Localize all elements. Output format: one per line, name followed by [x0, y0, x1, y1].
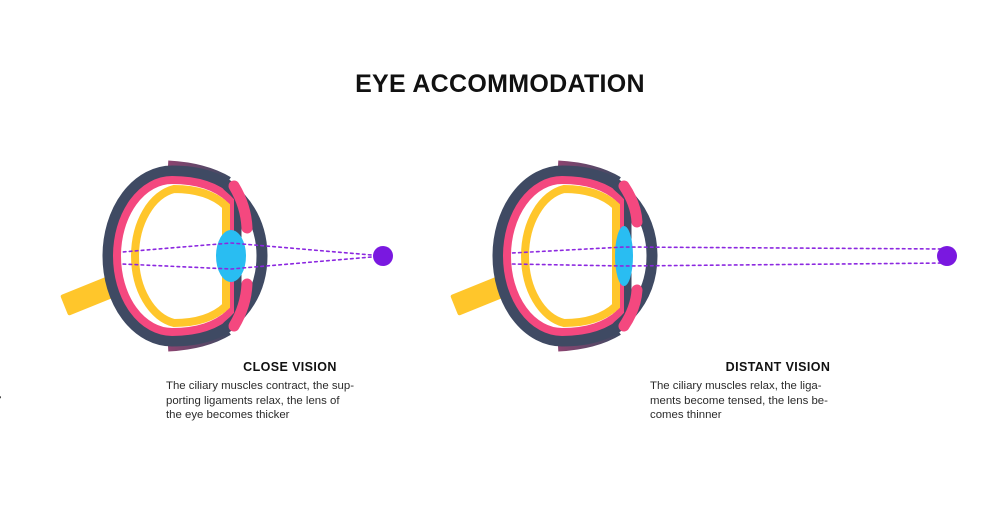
- caption-heading-distant-vision: DISTANT VISION: [628, 360, 928, 374]
- ciliary-muscle-arc-bottom: [558, 330, 618, 346]
- optic-nerve: [60, 272, 126, 316]
- page-title: EYE ACCOMMODATION: [0, 70, 1000, 99]
- light-rays: [122, 243, 383, 269]
- caption-body-close-vision: The ciliary muscles contract, the sup- p…: [140, 379, 440, 423]
- caption-heading-close-vision: CLOSE VISION: [140, 360, 440, 374]
- light-rays: [512, 247, 947, 266]
- cornea: [228, 186, 262, 326]
- retina: [135, 189, 226, 323]
- sclera: [108, 171, 236, 341]
- retina: [525, 189, 616, 323]
- optic-nerve: [450, 272, 516, 316]
- caption-body-distant-vision: The ciliary muscles relax, the liga- men…: [628, 379, 928, 423]
- object-point: [373, 246, 393, 266]
- lens: [615, 226, 633, 286]
- iris: [234, 186, 247, 326]
- ciliary-muscle-arc-top: [558, 166, 618, 182]
- object-point: [937, 246, 957, 266]
- lens: [216, 230, 246, 282]
- iris: [624, 186, 637, 326]
- illustration-canvas: EYE ACCOMMODATION Adobe Stock | #7197001…: [0, 0, 1000, 506]
- choroid: [117, 180, 230, 332]
- eye-diagram-close-vision: [60, 166, 393, 346]
- ciliary-muscle-arc-bottom: [168, 330, 228, 346]
- sclera: [498, 171, 626, 341]
- caption-close-vision: CLOSE VISION The ciliary muscles contrac…: [140, 360, 440, 423]
- ciliary-muscle-arc-top: [168, 166, 228, 182]
- caption-distant-vision: DISTANT VISION The ciliary muscles relax…: [628, 360, 928, 423]
- eye-diagram-distant-vision: [450, 166, 957, 346]
- cornea: [618, 186, 652, 326]
- choroid: [507, 180, 620, 332]
- adobe-stock-watermark: Adobe Stock | #719700119: [0, 304, 2, 500]
